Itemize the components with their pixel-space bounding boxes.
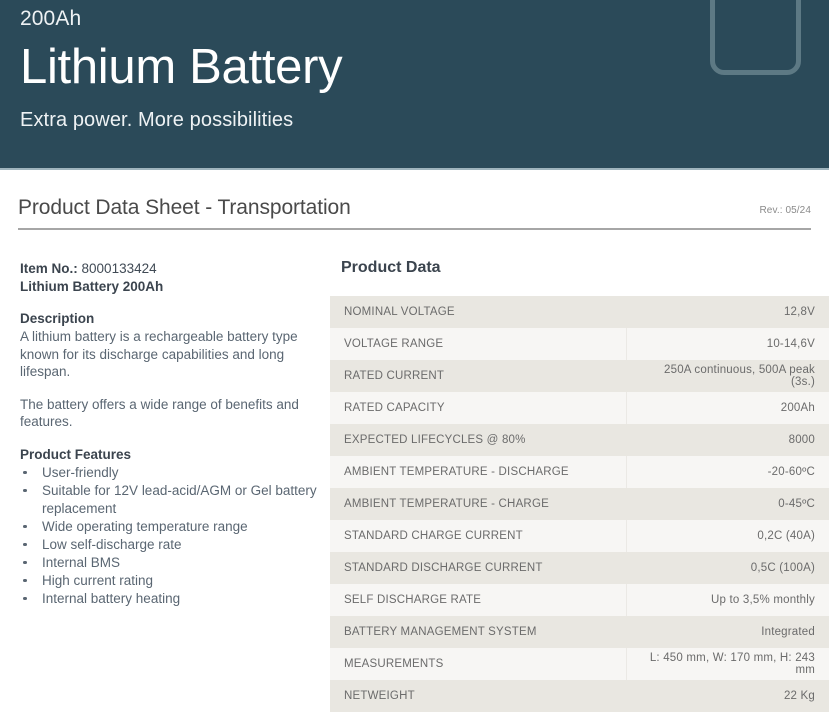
spec-value: Up to 3,5% monthly [626, 584, 829, 616]
hero-text-block: 200Ah Lithium Battery Extra power. More … [20, 0, 342, 130]
list-item: Internal BMS [20, 554, 330, 572]
description-paragraph-2: The battery offers a wide range of benef… [20, 396, 330, 431]
features-list: User-friendly Suitable for 12V lead-acid… [20, 464, 330, 608]
table-row: SELF DISCHARGE RATEUp to 3,5% monthly [330, 584, 829, 616]
description-paragraph-1: A lithium battery is a rechargeable batt… [20, 328, 330, 381]
spec-value: L: 450 mm, W: 170 mm, H: 243 mm [626, 648, 829, 680]
spacer [20, 381, 330, 396]
hero-product-title: Lithium Battery [20, 29, 342, 94]
spacer [20, 431, 330, 446]
description-heading: Description [20, 310, 330, 328]
spec-key: NOMINAL VOLTAGE [330, 296, 626, 328]
table-row: STANDARD DISCHARGE CURRENT0,5C (100A) [330, 552, 829, 584]
list-item: High current rating [20, 572, 330, 590]
spec-key: AMBIENT TEMPERATURE - DISCHARGE [330, 456, 626, 488]
spec-value: 0,5C (100A) [626, 552, 829, 584]
spec-key: STANDARD DISCHARGE CURRENT [330, 552, 626, 584]
table-row: RATED CAPACITY200Ah [330, 392, 829, 424]
spec-key: MEASUREMENTS [330, 648, 626, 680]
right-column: Product Data NOMINAL VOLTAGE12,8V VOLTAG… [330, 230, 829, 712]
spec-key: VOLTAGE RANGE [330, 328, 626, 360]
spec-value: 10-14,6V [626, 328, 829, 360]
hero-capacity-kicker: 200Ah [20, 0, 342, 29]
table-row: NETWEIGHT22 Kg [330, 680, 829, 712]
table-row: NOMINAL VOLTAGE12,8V [330, 296, 829, 328]
spec-key: RATED CURRENT [330, 360, 626, 392]
left-column: Item No.: 8000133424 Lithium Battery 200… [0, 230, 330, 608]
page-title: Product Data Sheet - Transportation [18, 197, 811, 218]
revision-label: Rev.: 05/24 [759, 205, 811, 216]
spec-value: 12,8V [626, 296, 829, 328]
features-heading: Product Features [20, 446, 330, 464]
table-row: MEASUREMENTSL: 450 mm, W: 170 mm, H: 243… [330, 648, 829, 680]
spec-key: NETWEIGHT [330, 680, 626, 712]
spec-value: 250A continuous, 500A peak (3s.) [626, 360, 829, 392]
spec-value: Integrated [626, 616, 829, 648]
table-row: VOLTAGE RANGE10-14,6V [330, 328, 829, 360]
spec-key: AMBIENT TEMPERATURE - CHARGE [330, 488, 626, 520]
list-item: User-friendly [20, 464, 330, 482]
spec-value: 0,2C (40A) [626, 520, 829, 552]
spec-value: 8000 [626, 424, 829, 456]
table-row: AMBIENT TEMPERATURE - CHARGE0-45ºC [330, 488, 829, 520]
list-item: Internal battery heating [20, 590, 330, 608]
table-row: RATED CURRENT250A continuous, 500A peak … [330, 360, 829, 392]
hero-banner: 200Ah Lithium Battery Extra power. More … [0, 0, 829, 170]
product-data-table-body: NOMINAL VOLTAGE12,8V VOLTAGE RANGE10-14,… [330, 296, 829, 712]
item-number-value: 8000133424 [82, 261, 157, 276]
product-data-heading: Product Data [330, 260, 829, 276]
spec-key: RATED CAPACITY [330, 392, 626, 424]
table-row: BATTERY MANAGEMENT SYSTEMIntegrated [330, 616, 829, 648]
spec-value: 22 Kg [626, 680, 829, 712]
spec-key: STANDARD CHARGE CURRENT [330, 520, 626, 552]
spacer [20, 295, 330, 310]
spec-value: 200Ah [626, 392, 829, 424]
hero-tagline: Extra power. More possibilities [20, 94, 342, 130]
table-row: EXPECTED LIFECYCLES @ 80%8000 [330, 424, 829, 456]
content-area: Item No.: 8000133424 Lithium Battery 200… [0, 230, 829, 712]
battery-outline-icon [710, 0, 801, 75]
spec-value: -20-60ºC [626, 456, 829, 488]
list-item: Wide operating temperature range [20, 518, 330, 536]
spec-key: BATTERY MANAGEMENT SYSTEM [330, 616, 626, 648]
table-row: STANDARD CHARGE CURRENT0,2C (40A) [330, 520, 829, 552]
spec-value: 0-45ºC [626, 488, 829, 520]
section-header: Product Data Sheet - Transportation Rev.… [18, 170, 811, 218]
spec-key: EXPECTED LIFECYCLES @ 80% [330, 424, 626, 456]
spec-key: SELF DISCHARGE RATE [330, 584, 626, 616]
list-item: Suitable for 12V lead-acid/AGM or Gel ba… [20, 482, 330, 518]
item-number-label: Item No.: [20, 261, 78, 276]
list-item: Low self-discharge rate [20, 536, 330, 554]
item-number-line: Item No.: 8000133424 [20, 260, 330, 278]
table-row: AMBIENT TEMPERATURE - DISCHARGE-20-60ºC [330, 456, 829, 488]
product-name: Lithium Battery 200Ah [20, 278, 330, 296]
product-data-table: NOMINAL VOLTAGE12,8V VOLTAGE RANGE10-14,… [330, 296, 829, 712]
